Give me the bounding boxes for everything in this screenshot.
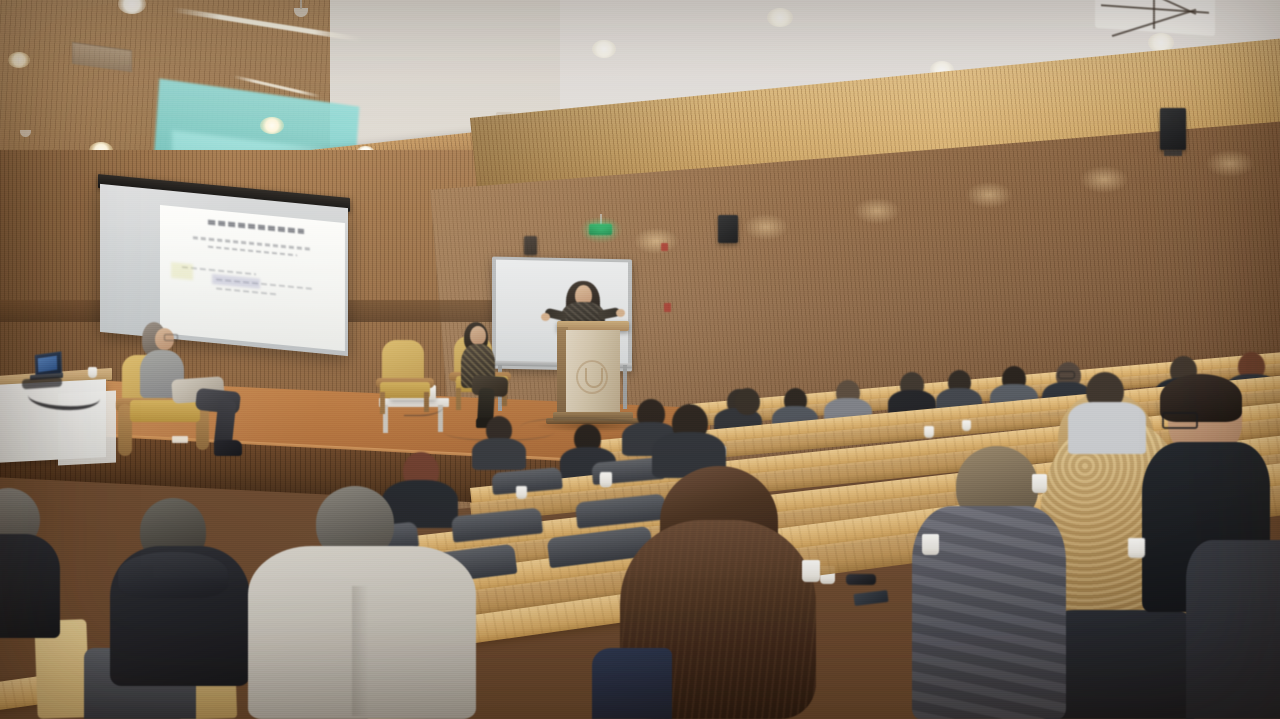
sunglasses-icon	[846, 574, 876, 585]
paper-cup	[1128, 538, 1145, 558]
armchair-center-seat	[380, 382, 430, 398]
sweater-fold	[352, 586, 368, 716]
armchair-right-leg	[456, 388, 461, 410]
paper-cup	[924, 426, 934, 438]
armchair-left-label	[172, 436, 188, 443]
slide-body-text	[216, 287, 279, 295]
panelist-1-boot	[214, 440, 242, 456]
audience-head	[735, 388, 760, 415]
podium-emblem-icon	[576, 360, 608, 394]
fire-alarm-device	[661, 243, 668, 251]
audience-body	[472, 438, 526, 470]
presenter-hand-left	[541, 313, 550, 321]
wall-speaker-bracket	[1164, 150, 1182, 156]
smartphone	[853, 590, 888, 606]
audience-body	[1068, 402, 1146, 454]
panelist-2-head	[470, 326, 486, 345]
paper-cup	[922, 534, 939, 555]
paper-cup	[802, 560, 820, 582]
downlight	[260, 117, 284, 134]
jacket-hood	[118, 552, 228, 598]
paper-cup	[88, 367, 97, 378]
fire-alarm-device	[664, 303, 671, 312]
audience-body	[1044, 610, 1194, 719]
armchair-center-leg	[424, 392, 429, 412]
armchair-left-seat	[130, 400, 200, 422]
glasses-icon	[1058, 371, 1075, 379]
audience-backpack	[1186, 540, 1280, 719]
audience-body	[0, 534, 60, 638]
wall-light-pool	[1206, 150, 1254, 177]
audience-body	[592, 648, 672, 719]
wall-light-pool	[1080, 166, 1128, 193]
wall-light-pool	[744, 214, 788, 240]
downlight	[8, 52, 30, 68]
wall-light-pool	[634, 228, 678, 254]
wall-speaker	[718, 215, 738, 243]
downlight	[767, 8, 793, 27]
paper-cup	[962, 420, 971, 431]
presenter-hand-right	[616, 309, 625, 317]
wall-light-pool	[854, 198, 900, 224]
paper-cup	[600, 472, 612, 487]
downlight	[592, 40, 616, 58]
wall-light-pool	[966, 182, 1012, 208]
wall-speaker	[524, 236, 537, 255]
panelist-1-glasses-icon	[164, 334, 178, 341]
armchair-center-leg	[380, 392, 385, 414]
laptop-screen-glow	[38, 356, 57, 373]
projected-slide	[160, 205, 345, 351]
exit-sign-glow	[579, 216, 623, 244]
sprinkler-rod	[300, 0, 302, 9]
slide-color-block	[171, 262, 193, 280]
lecture-hall-photo	[0, 0, 1280, 719]
whiteboard-leg	[623, 365, 627, 409]
glasses-icon	[1162, 412, 1198, 429]
paper-cup	[516, 486, 527, 499]
wall-speaker	[1160, 108, 1186, 150]
paper-cup	[1032, 474, 1047, 493]
slide-title-text	[208, 220, 304, 234]
